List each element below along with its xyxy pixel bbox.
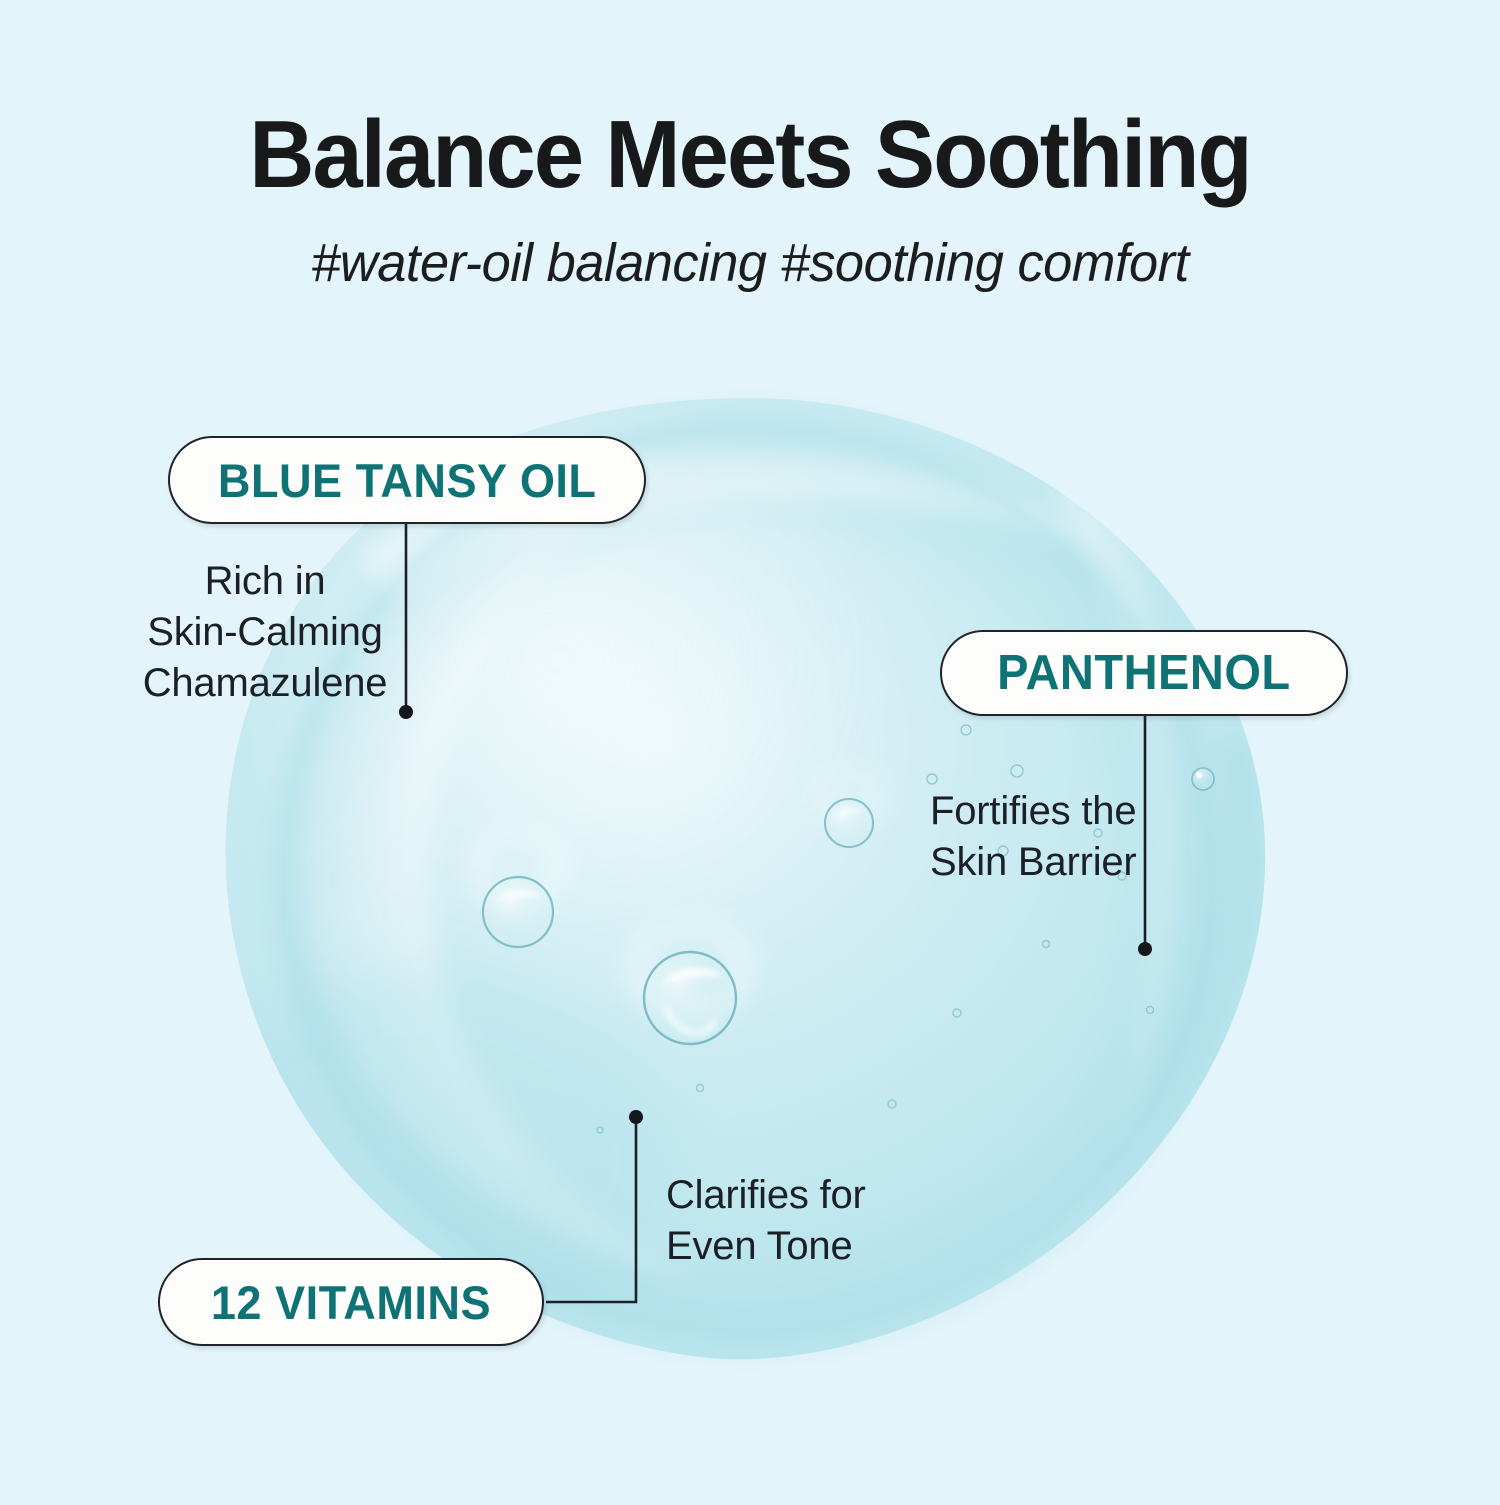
description-panthenol: Fortifies the Skin Barrier xyxy=(930,786,1230,888)
page-title: Balance Meets Soothing xyxy=(45,100,1455,210)
pill-12-vitamins-label: 12 VITAMINS xyxy=(211,1275,491,1330)
pill-panthenol-label: PANTHENOL xyxy=(997,645,1291,701)
description-blue-tansy-oil: Rich in Skin-Calming Chamazulene xyxy=(120,556,410,710)
page-subtitle: #water-oil balancing #soothing comfort xyxy=(23,232,1478,294)
pill-panthenol[interactable]: PANTHENOL xyxy=(940,630,1348,716)
description-12-vitamins: Clarifies for Even Tone xyxy=(666,1170,966,1272)
pill-blue-tansy-oil-label: BLUE TANSY OIL xyxy=(218,453,597,508)
pill-12-vitamins[interactable]: 12 VITAMINS xyxy=(158,1258,544,1346)
pill-blue-tansy-oil[interactable]: BLUE TANSY OIL xyxy=(168,436,646,524)
infographic-canvas: Balance Meets Soothing #water-oil balanc… xyxy=(0,0,1500,1500)
